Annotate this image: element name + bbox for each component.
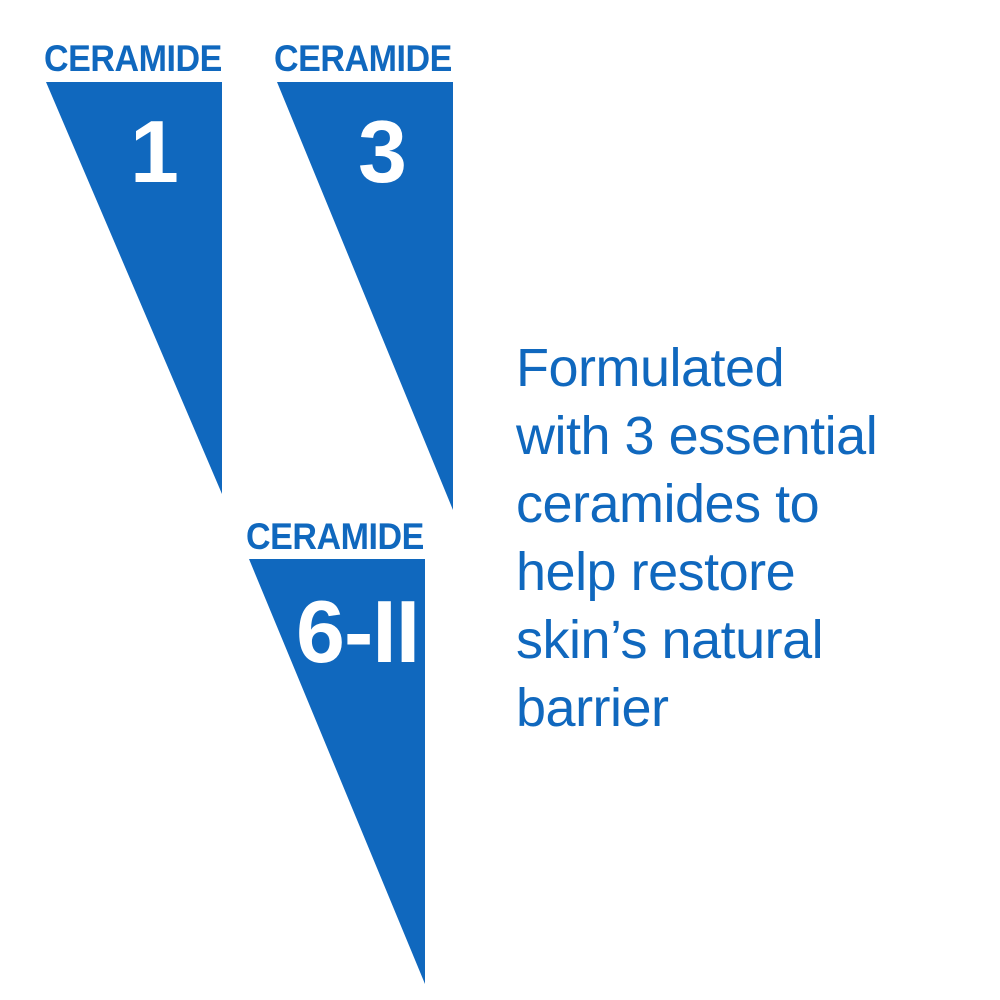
ceramide-badge-6ii-number: 6-II xyxy=(296,588,419,676)
marketing-copy-block: Formulated with 3 essential ceramides to… xyxy=(516,334,966,742)
ceramide-badge-6ii-label: CERAMIDE xyxy=(246,518,424,555)
copy-line: ceramides to xyxy=(516,470,966,538)
ceramide-badge-3-number: 3 xyxy=(358,108,406,196)
copy-line: Formulated xyxy=(516,334,966,402)
promo-graphic-canvas: CERAMIDE 1 CERAMIDE 3 CERAMIDE 6-II Form… xyxy=(0,0,1000,1000)
ceramide-badge-1-label: CERAMIDE xyxy=(44,40,222,77)
copy-line: with 3 essential xyxy=(516,402,966,470)
copy-line: skin’s natural xyxy=(516,606,966,674)
ceramide-badge-1-number: 1 xyxy=(130,108,178,196)
ceramide-badge-3-label: CERAMIDE xyxy=(274,40,452,77)
copy-line: barrier xyxy=(516,674,966,742)
copy-line: help restore xyxy=(516,538,966,606)
